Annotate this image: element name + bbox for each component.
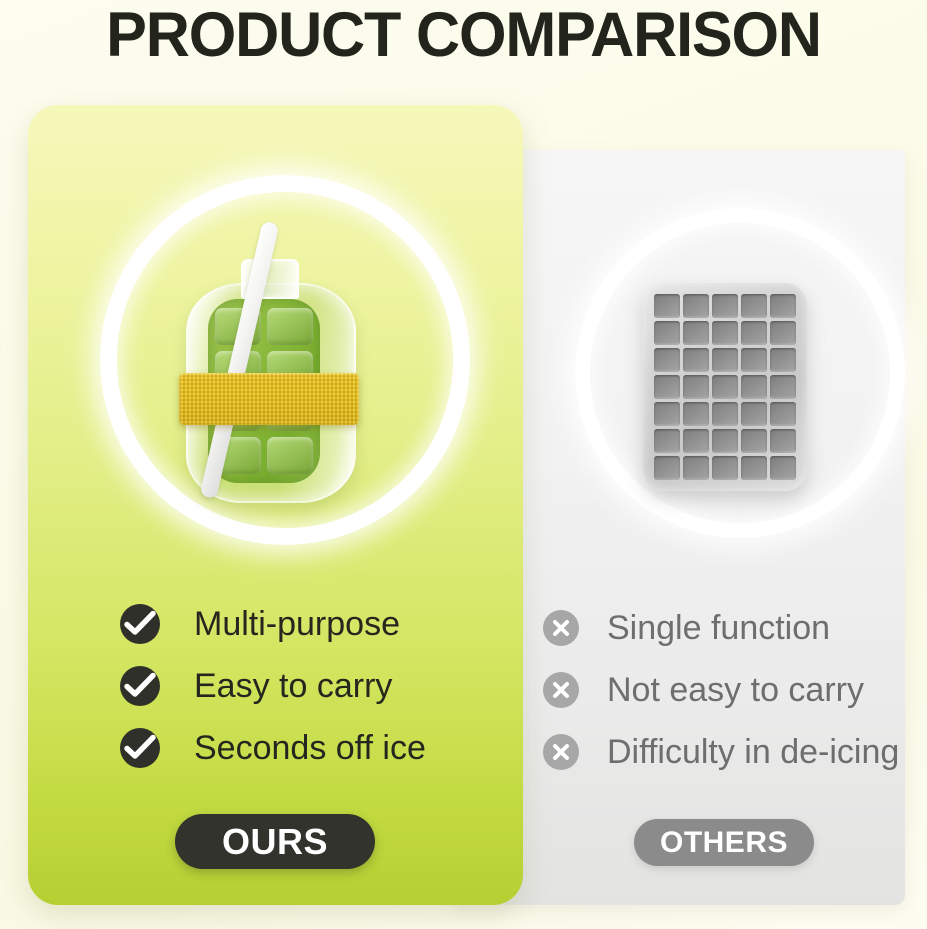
check-circle-icon <box>120 604 160 644</box>
page-title: PRODUCT COMPARISON <box>14 0 913 72</box>
tray-cell <box>770 294 796 318</box>
tray-cell <box>741 348 767 372</box>
x-circle-icon <box>543 734 579 770</box>
feature-label: Seconds off ice <box>194 728 426 768</box>
tray-cell <box>712 294 738 318</box>
tray-cell <box>770 402 796 426</box>
tray-cell <box>654 321 680 345</box>
tray-cell <box>741 402 767 426</box>
tray-cell <box>741 294 767 318</box>
classic-ice-tray-image <box>643 283 807 491</box>
tray-cell <box>683 321 709 345</box>
ours-card <box>28 105 523 905</box>
ours-badge: OURS <box>175 814 375 869</box>
ours-feature-list: Multi-purpose Easy to carry Seconds off … <box>120 604 500 768</box>
check-circle-icon <box>120 728 160 768</box>
list-item: Not easy to carry <box>543 670 913 710</box>
yellow-elastic-strap <box>179 373 359 425</box>
ice-tray-cell-grid <box>654 294 796 480</box>
tray-cell <box>712 456 738 480</box>
tray-cell <box>741 429 767 453</box>
tray-cell <box>683 402 709 426</box>
tray-cell <box>770 429 796 453</box>
tray-cell <box>683 375 709 399</box>
tray-cell <box>654 294 680 318</box>
tray-cell <box>683 294 709 318</box>
tray-cell <box>654 402 680 426</box>
tray-cell <box>741 321 767 345</box>
others-feature-list: Single function Not easy to carry Diffic… <box>543 608 913 772</box>
tray-cell <box>770 456 796 480</box>
tray-cell <box>770 321 796 345</box>
tray-cell <box>741 375 767 399</box>
feature-label: Not easy to carry <box>607 670 864 710</box>
tray-cell <box>712 348 738 372</box>
cube-cell <box>267 437 313 474</box>
tray-cell <box>770 348 796 372</box>
list-item: Difficulty in de-icing <box>543 732 913 772</box>
product-comparison-infographic: PRODUCT COMPARISON <box>0 0 927 929</box>
tray-cell <box>654 348 680 372</box>
feature-label: Easy to carry <box>194 666 392 706</box>
cube-cell <box>267 308 313 345</box>
tray-cell <box>712 375 738 399</box>
tray-cell <box>654 429 680 453</box>
tray-cell <box>712 429 738 453</box>
list-item: Easy to carry <box>120 666 500 706</box>
tray-cell <box>683 429 709 453</box>
feature-label: Single function <box>607 608 830 648</box>
x-circle-icon <box>543 672 579 708</box>
tray-cell <box>741 456 767 480</box>
tray-cell <box>770 375 796 399</box>
tray-cell <box>683 348 709 372</box>
check-circle-icon <box>120 666 160 706</box>
tray-cell <box>712 321 738 345</box>
list-item: Multi-purpose <box>120 604 500 644</box>
list-item: Single function <box>543 608 913 648</box>
tray-cell <box>712 402 738 426</box>
portable-bottle-ice-tray-image <box>178 215 360 515</box>
feature-label: Multi-purpose <box>194 604 400 644</box>
others-badge: OTHERS <box>634 819 814 866</box>
tray-cell <box>683 456 709 480</box>
feature-label: Difficulty in de-icing <box>607 732 899 772</box>
tray-cell <box>654 375 680 399</box>
list-item: Seconds off ice <box>120 728 500 768</box>
x-circle-icon <box>543 610 579 646</box>
tray-cell <box>654 456 680 480</box>
